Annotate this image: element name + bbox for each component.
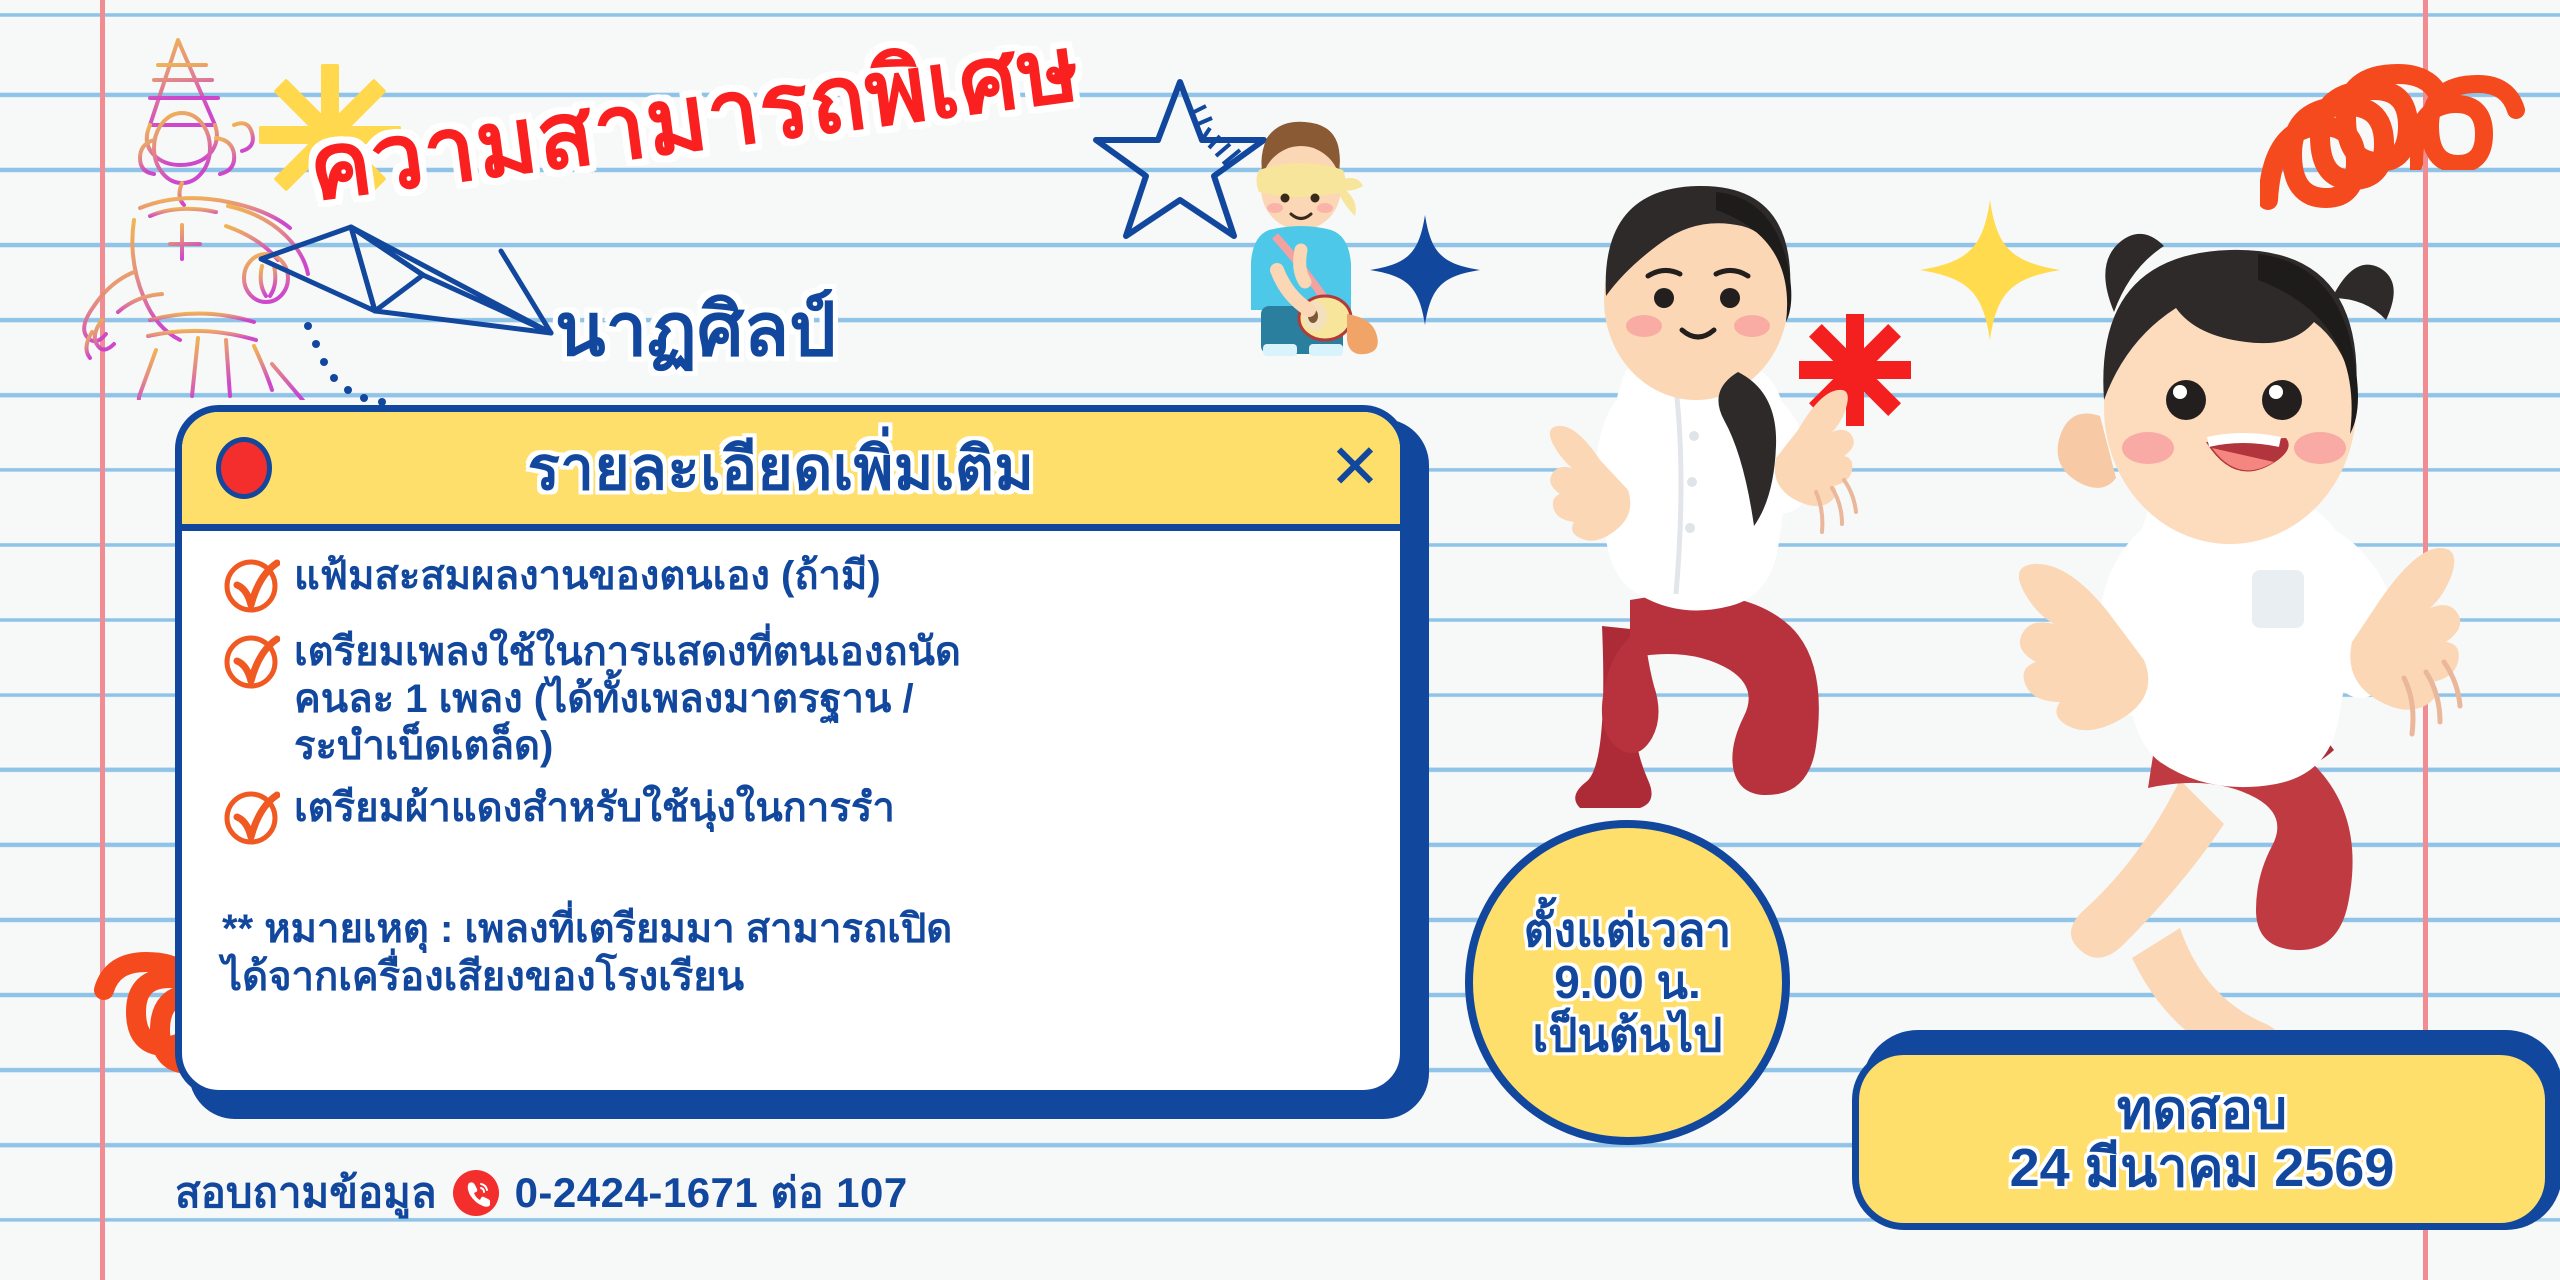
check-circle-icon [222,557,280,615]
card-note: ** หมายเหตุ : เพลงที่เตรียมมา สามารถเปิด… [222,905,1354,1003]
phone-icon [453,1170,499,1216]
time-badge-line-1: ตั้งแต่เวลา [1524,904,1731,956]
boy-drummer-character [1215,110,1385,370]
date-banner: ทดสอบ 24 มีนาคม 2569 [1852,1048,2552,1230]
four-point-sparkle-icon [1370,215,1480,325]
girl-thai-dancer-character [1480,130,1930,850]
list-item: เตรียมผ้าแดงสำหรับใช้นุ่งในการรำ [222,785,1354,847]
dotted-trail-icon [300,320,420,410]
close-icon[interactable]: ✕ [1310,437,1400,499]
spiral-doodle-icon [2410,40,2560,170]
time-badge-line-2: 9.00 น. [1554,956,1701,1008]
list-item-label: แฟ้มสะสมผลงานของตนเอง (ถ้ามี) [294,553,881,600]
headline-main: ความสามารถพิเศษ [300,0,1088,241]
details-card: รายละเอียดเพิ่มเติม ✕ แฟ้มสะสมผลงานของตน… [175,405,1415,1105]
check-circle-icon [222,789,280,847]
date-banner-line-2: 24 มีนาคม 2569 [2010,1139,2395,1197]
headline-sub: นาฏศิลป์ [555,270,836,388]
contact-phone-number: 0-2424-1671 ต่อ 107 [515,1160,908,1226]
left-margin-line [100,0,105,1280]
khon-dancer-outline-icon [30,20,330,400]
star-outline-icon [1090,70,1270,250]
list-item-label: เตรียมผ้าแดงสำหรับใช้นุ่งในการรำ [294,785,895,832]
asterisk-burst-icon [1795,310,1915,430]
list-item: เตรียมเพลงใช้ในการแสดงที่ตนเองถนัด คนละ … [222,629,1354,771]
contact-line: สอบถามข้อมูล 0-2424-1671 ต่อ 107 [175,1160,908,1226]
record-dot-icon [216,437,272,499]
paper-plane-icon [255,215,565,355]
card-header-title: รายละเอียดเพิ่มเติม [272,421,1310,516]
card-header: รายละเอียดเพิ่มเติม ✕ [182,412,1400,531]
card-body: แฟ้มสะสมผลงานของตนเอง (ถ้ามี) เตรียมเพลง… [182,531,1400,1002]
check-circle-icon [222,633,280,691]
time-badge: ตั้งแต่เวลา 9.00 น. เป็นต้นไป [1465,820,1790,1145]
card-panel: รายละเอียดเพิ่มเติม ✕ แฟ้มสะสมผลงานของตน… [175,405,1407,1097]
contact-label: สอบถามข้อมูล [175,1160,437,1226]
date-banner-line-1: ทดสอบ [2117,1081,2287,1139]
list-item-label: เตรียมเพลงใช้ในการแสดงที่ตนเองถนัด คนละ … [294,629,961,771]
time-badge-line-3: เป็นต้นไป [1532,1009,1722,1061]
list-item: แฟ้มสะสมผลงานของตนเอง (ถ้ามี) [222,553,1354,615]
poster-canvas: ความสามารถพิเศษ นาฏศิลป์ รายละเอียดเพิ่ม… [0,0,2560,1280]
spiral-doodle-icon [2260,10,2560,210]
four-point-sparkle-icon [1920,200,2060,340]
